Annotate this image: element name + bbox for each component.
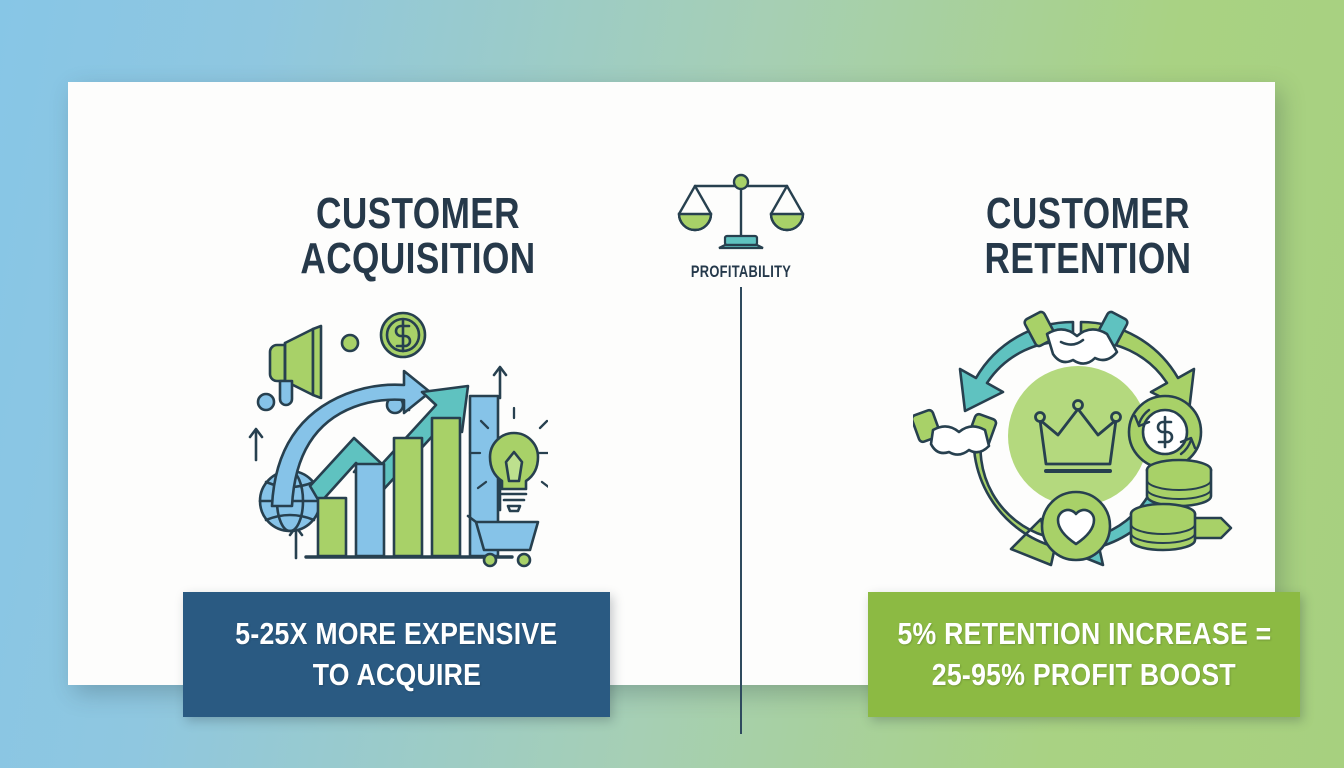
retention-stat-line2: 25-95% PROFIT BOOST [932,655,1236,695]
profitability-label: PROFITABILITY [674,263,808,282]
accent-dot-icon [258,394,274,410]
dollar-refresh-icon [1129,396,1201,468]
left-title-line2: ACQUISITION [250,237,586,282]
balance-scale-icon [655,170,827,256]
retention-stat-banner: 5% RETENTION INCREASE = 25-95% PROFIT BO… [868,592,1300,717]
right-title-line1: CUSTOMER [986,189,1190,238]
heart-badge-icon [1042,492,1110,560]
right-column-title: CUSTOMER RETENTION [920,192,1256,282]
center-divider [740,287,742,734]
handshake-top-icon [1023,311,1129,364]
coin-stack-lower [1131,504,1195,550]
content-card: CUSTOMER ACQUISITION CUSTOMER RETENTION [68,82,1275,685]
handshake-left-icon [913,409,997,454]
bar-3 [394,438,422,556]
right-title-line2: RETENTION [920,237,1256,282]
left-title-line1: CUSTOMER [316,189,520,238]
dollar-coin-icon [381,313,425,357]
accent-dot-icon [342,335,358,351]
growth-chart-illustration [228,310,548,570]
coin-stack-icon [1131,460,1231,550]
center-circle [1008,366,1148,506]
bar-1 [318,498,346,556]
retention-stat-line1: 5% RETENTION INCREASE = [897,614,1271,654]
bar-4 [432,418,460,556]
left-column-title: CUSTOMER ACQUISITION [250,192,586,282]
accent-arrow-icon [250,429,262,460]
retention-cycle-illustration [913,304,1243,572]
megaphone-icon [270,326,321,405]
acquisition-stat-line2: TO ACQUIRE [312,655,480,695]
acquisition-stat-line1: 5-25X MORE EXPENSIVE [235,614,557,654]
accent-arrow-icon [494,367,506,398]
profitability-block: PROFITABILITY [655,170,827,282]
acquisition-stat-banner: 5-25X MORE EXPENSIVE TO ACQUIRE [183,592,610,717]
bar-2 [356,464,384,556]
infographic-root: CUSTOMER ACQUISITION CUSTOMER RETENTION [0,0,1344,768]
coin-stack-upper [1147,460,1211,506]
